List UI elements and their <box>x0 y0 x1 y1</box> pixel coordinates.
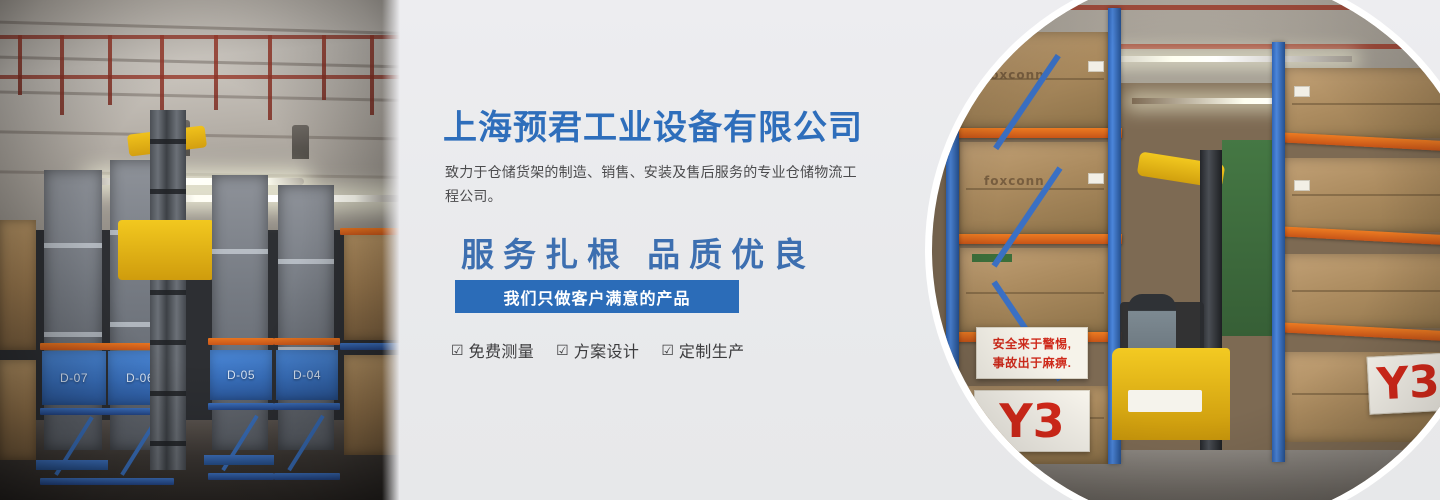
cta-button-label: 我们只做客户满意的产品 <box>503 285 690 309</box>
cta-button[interactable]: 我们只做客户满意的产品 <box>455 280 739 313</box>
checkbox-check-icon: ☑ <box>661 343 674 357</box>
checkbox-check-icon: ☑ <box>556 343 569 357</box>
feature-item-custom-production: ☑ 定制生产 <box>661 338 744 362</box>
left-warehouse-photo: D-07 D-06 D-05 <box>0 0 400 500</box>
photo-vignette <box>932 0 1440 500</box>
company-subtitle: 致力于仓储货架的制造、销售、安装及售后服务的专业仓储物流工程公司。 <box>445 160 857 208</box>
right-warehouse-photo: foxconn foxconn <box>932 0 1440 500</box>
hero-text-block: 上海预君工业设备有限公司 致力于仓储货架的制造、销售、安装及售后服务的专业仓储物… <box>443 0 913 500</box>
left-photo-fade <box>382 0 400 500</box>
hero-banner: D-07 D-06 D-05 <box>0 0 1440 500</box>
feature-label: 免费测量 <box>469 338 535 362</box>
right-photo-circle-ring: foxconn foxconn <box>925 0 1440 500</box>
feature-list: ☑ 免费测量 ☑ 方案设计 ☑ 定制生产 <box>451 338 745 362</box>
checkbox-check-icon: ☑ <box>451 343 464 357</box>
feature-item-plan-design: ☑ 方案设计 <box>556 338 639 362</box>
photo-vignette <box>0 0 400 500</box>
feature-label: 定制生产 <box>679 338 745 362</box>
feature-item-free-measurement: ☑ 免费测量 <box>451 338 534 362</box>
company-title: 上海预君工业设备有限公司 <box>443 100 863 149</box>
hero-slogan: 服务扎根 品质优良 <box>461 228 815 276</box>
feature-label: 方案设计 <box>574 338 640 362</box>
